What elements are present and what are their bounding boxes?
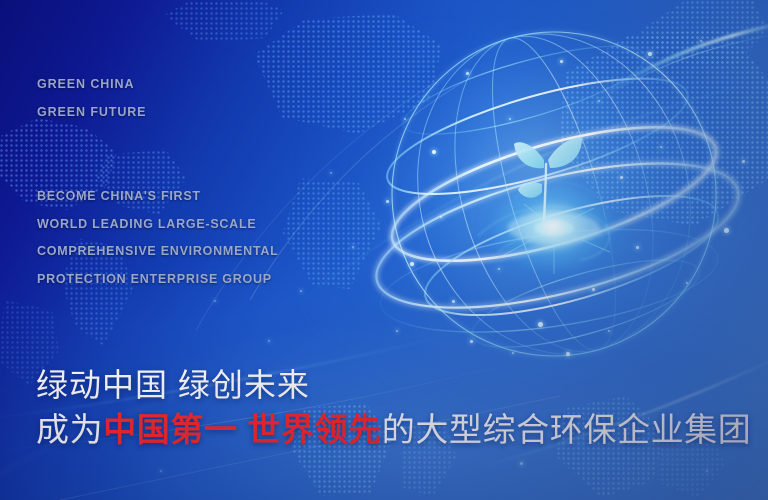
vignette-overlay: [0, 0, 768, 500]
hero-banner: GREEN CHINA GREEN FUTURE BECOME CHINA'S …: [0, 0, 768, 500]
